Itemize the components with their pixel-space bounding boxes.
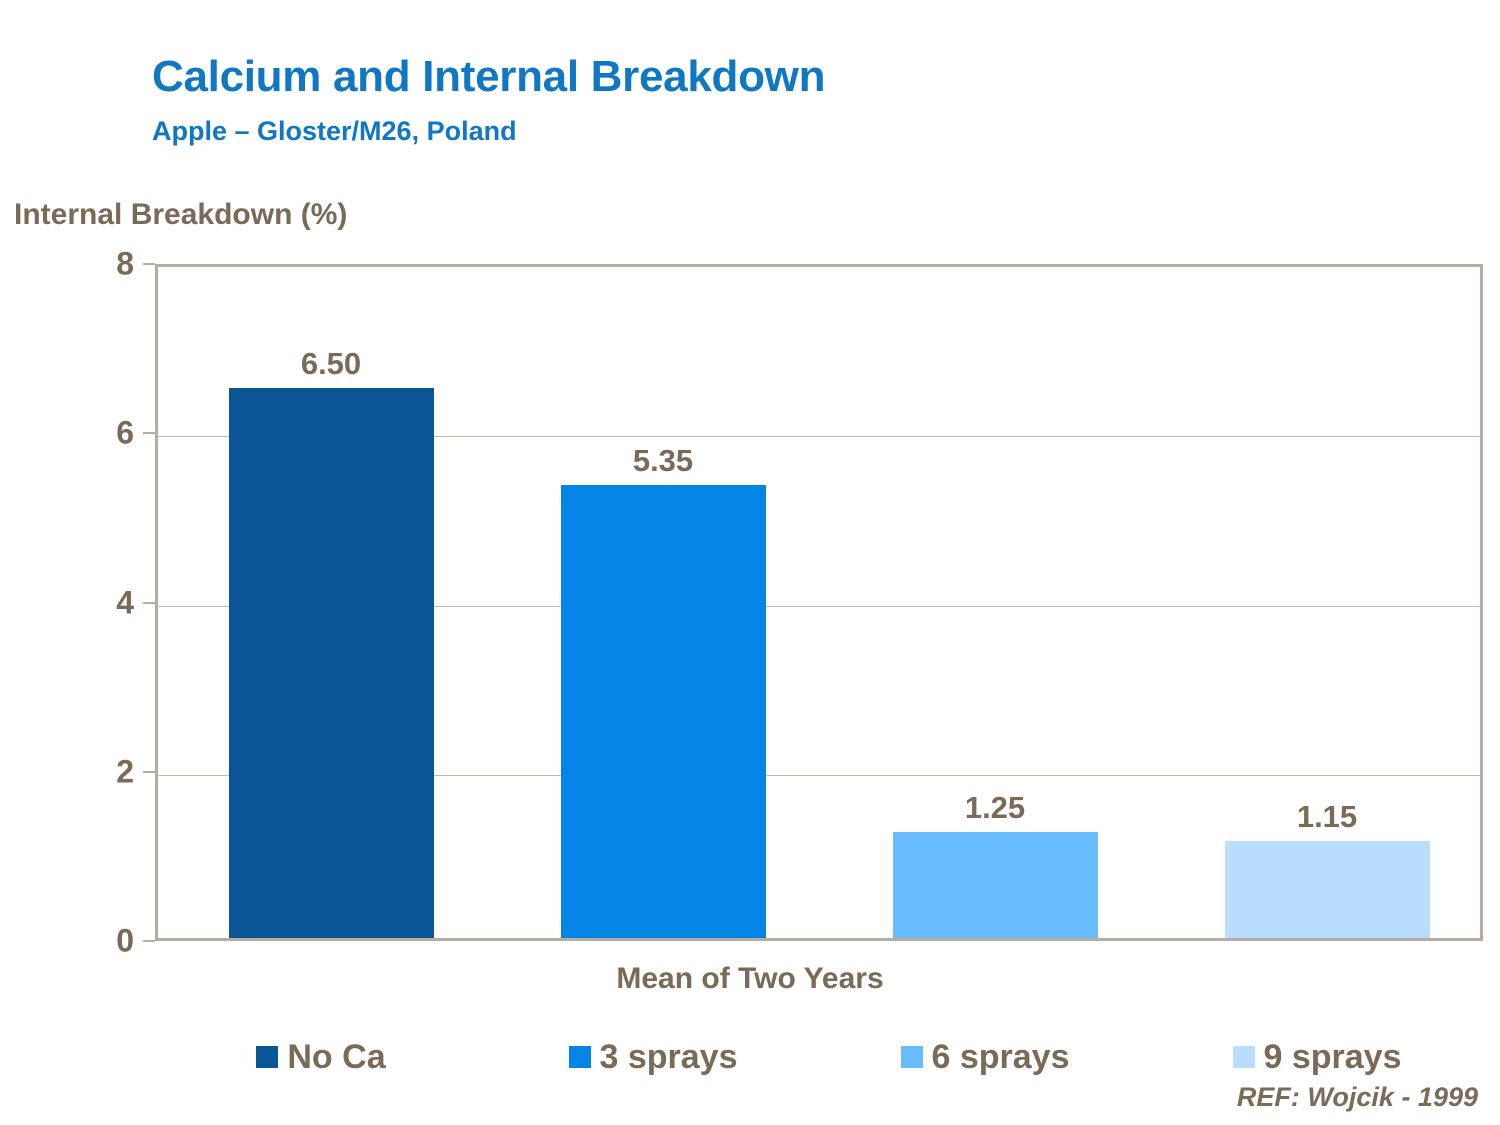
- legend-swatch-icon: [256, 1046, 278, 1068]
- y-tick-label: 2: [74, 753, 134, 790]
- reference-note: REF: Wojcik - 1999: [1237, 1082, 1478, 1113]
- bar-value-label: 6.50: [229, 346, 434, 382]
- bar[interactable]: [561, 485, 766, 938]
- legend-swatch-icon: [569, 1046, 591, 1068]
- bar-value-label: 1.15: [1225, 799, 1430, 835]
- legend-label: 9 sprays: [1264, 1038, 1402, 1077]
- y-tick-mark: [143, 602, 155, 604]
- bar-value-label: 5.35: [561, 443, 766, 479]
- legend-item-9-sprays[interactable]: 9 sprays: [1151, 1038, 1483, 1077]
- legend-swatch-icon: [1233, 1046, 1255, 1068]
- x-axis-title: Mean of Two Years: [0, 962, 1500, 996]
- legend-label: No Ca: [287, 1038, 385, 1077]
- plot-inner: 6.505.351.251.15: [158, 267, 1480, 938]
- legend-item-6-sprays[interactable]: 6 sprays: [819, 1038, 1151, 1077]
- bar[interactable]: [1225, 841, 1430, 938]
- y-tick-mark: [143, 940, 155, 942]
- legend-label: 6 sprays: [932, 1038, 1070, 1077]
- y-tick-label: 4: [74, 584, 134, 621]
- legend-item-3-sprays[interactable]: 3 sprays: [487, 1038, 819, 1077]
- bar[interactable]: [893, 832, 1098, 938]
- y-tick-label: 0: [74, 923, 134, 960]
- bar-value-label: 1.25: [893, 790, 1098, 826]
- y-tick-label: 8: [74, 246, 134, 283]
- plot-area: 6.505.351.251.15: [155, 264, 1483, 941]
- y-tick-mark: [143, 432, 155, 434]
- page-title: Calcium and Internal Breakdown: [152, 52, 825, 102]
- legend-label: 3 sprays: [600, 1038, 738, 1077]
- legend: No Ca3 sprays6 sprays9 sprays: [155, 1030, 1483, 1084]
- y-tick-label: 6: [74, 415, 134, 452]
- y-axis-title: Internal Breakdown (%): [14, 198, 347, 232]
- y-tick-mark: [143, 263, 155, 265]
- y-tick-mark: [143, 771, 155, 773]
- bar[interactable]: [229, 388, 434, 938]
- page-subtitle: Apple – Gloster/M26, Poland: [152, 116, 517, 147]
- legend-item-no-ca[interactable]: No Ca: [155, 1038, 487, 1077]
- legend-swatch-icon: [901, 1046, 923, 1068]
